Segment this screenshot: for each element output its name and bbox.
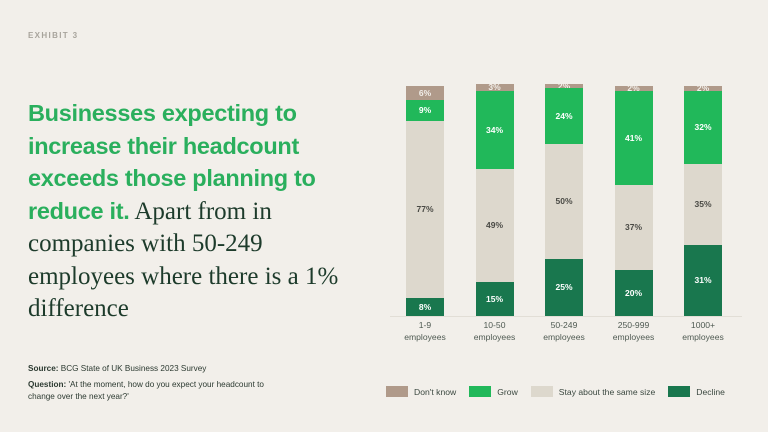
bar-column[interactable]: 3%34%49%15%: [476, 84, 514, 316]
page-title: Businesses expecting to increase their h…: [28, 98, 358, 326]
bar-segment-label: 20%: [625, 288, 642, 298]
x-axis-tick-label: 50-249employees: [531, 320, 597, 343]
legend-swatch-icon: [531, 386, 553, 397]
x-axis-tick-label: 1-9employees: [392, 320, 458, 343]
bar-segment[interactable]: 34%: [476, 91, 514, 169]
bar-segment[interactable]: 9%: [406, 100, 444, 121]
bar-segment-label: 50%: [555, 196, 572, 206]
question-note: Question: 'At the moment, how do you exp…: [28, 379, 288, 403]
bar-segment-label: 32%: [694, 122, 711, 132]
x-axis-tick-line-0: 1-9: [392, 320, 458, 332]
bar-segment[interactable]: 77%: [406, 121, 444, 298]
bar-segment-label: 34%: [486, 125, 503, 135]
chart-plot-area: 6%9%77%8%3%34%49%15%2%24%50%25%2%41%37%2…: [390, 86, 742, 317]
x-axis-tick-label: 1000+employees: [670, 320, 736, 343]
bar-segment-label: 24%: [555, 111, 572, 121]
chart-x-axis: 1-9employees10-50employees50-249employee…: [390, 320, 742, 354]
bar-segment[interactable]: 32%: [684, 91, 722, 165]
legend-label: Don't know: [414, 387, 456, 397]
bar-segment-label: 77%: [416, 204, 433, 214]
bar-segment-label: 31%: [694, 275, 711, 285]
legend-swatch-icon: [386, 386, 408, 397]
bar-segment-label: 6%: [419, 88, 431, 98]
x-axis-tick-line-1: employees: [462, 332, 528, 344]
bar-column[interactable]: 2%41%37%20%: [615, 86, 653, 316]
legend-label: Grow: [497, 387, 518, 397]
legend-swatch-icon: [668, 386, 690, 397]
bar-column[interactable]: 2%32%35%31%: [684, 86, 722, 316]
bar-segment-label: 8%: [419, 302, 431, 312]
legend-item-decline[interactable]: Decline: [668, 386, 725, 397]
legend-item-grow[interactable]: Grow: [469, 386, 518, 397]
bar-segment-label: 37%: [625, 222, 642, 232]
bar-segment-label: 41%: [625, 133, 642, 143]
x-axis-tick-line-1: employees: [392, 332, 458, 344]
bar-segment[interactable]: 20%: [615, 270, 653, 316]
x-axis-tick-line-1: employees: [601, 332, 667, 344]
legend-label: Decline: [696, 387, 725, 397]
x-axis-tick-label: 250-999employees: [601, 320, 667, 343]
x-axis-tick-label: 10-50employees: [462, 320, 528, 343]
bar-segment-label: 35%: [694, 199, 711, 209]
legend-item-dontknow[interactable]: Don't know: [386, 386, 456, 397]
bar-segment-label: 49%: [486, 220, 503, 230]
bar-segment-label: 3%: [488, 84, 500, 91]
bar-segment-label: 25%: [555, 282, 572, 292]
x-axis-tick-line-1: employees: [670, 332, 736, 344]
footnotes: Source: BCG State of UK Business 2023 Su…: [28, 363, 288, 407]
x-axis-tick-line-0: 250-999: [601, 320, 667, 332]
chart-legend: Don't knowGrowStay about the same sizeDe…: [386, 386, 725, 397]
bar-column[interactable]: 2%24%50%25%: [545, 84, 583, 316]
bar-segment-label: 9%: [419, 105, 431, 115]
bar-segment[interactable]: 6%: [406, 86, 444, 100]
bar-segment[interactable]: 35%: [684, 164, 722, 245]
bar-segment[interactable]: 49%: [476, 169, 514, 282]
bar-segment[interactable]: 41%: [615, 91, 653, 185]
legend-swatch-icon: [469, 386, 491, 397]
exhibit-label: EXHIBIT 3: [28, 31, 78, 40]
bar-segment[interactable]: 50%: [545, 144, 583, 259]
source-value: BCG State of UK Business 2023 Survey: [58, 364, 206, 373]
x-axis-tick-line-0: 10-50: [462, 320, 528, 332]
slide-canvas: EXHIBIT 3 Businesses expecting to increa…: [0, 0, 768, 432]
bar-segment[interactable]: 25%: [545, 259, 583, 317]
source-note: Source: BCG State of UK Business 2023 Su…: [28, 363, 288, 375]
bar-segment[interactable]: 15%: [476, 282, 514, 317]
question-label: Question:: [28, 380, 66, 389]
bar-segment[interactable]: 37%: [615, 185, 653, 270]
bar-segment[interactable]: 3%: [476, 84, 514, 91]
bar-segment[interactable]: 31%: [684, 245, 722, 316]
x-axis-tick-line-1: employees: [531, 332, 597, 344]
stacked-bar-chart: 6%9%77%8%3%34%49%15%2%24%50%25%2%41%37%2…: [390, 80, 742, 326]
x-axis-tick-line-0: 1000+: [670, 320, 736, 332]
x-axis-tick-line-0: 50-249: [531, 320, 597, 332]
bar-segment[interactable]: 8%: [406, 298, 444, 316]
legend-item-same[interactable]: Stay about the same size: [531, 386, 656, 397]
legend-label: Stay about the same size: [559, 387, 656, 397]
bar-segment[interactable]: 24%: [545, 88, 583, 143]
source-label: Source:: [28, 364, 58, 373]
bar-column[interactable]: 6%9%77%8%: [406, 86, 444, 316]
bar-segment-label: 15%: [486, 294, 503, 304]
